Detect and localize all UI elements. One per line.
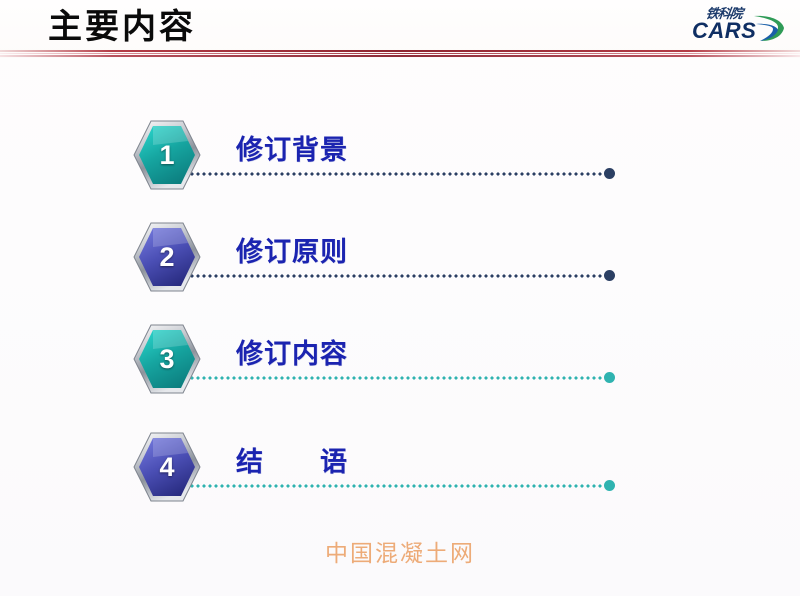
logo-swoosh-icon	[752, 10, 786, 44]
agenda-label-2: 修订原则	[236, 232, 348, 272]
agenda-item-3[interactable]: 3 修订内容	[0, 320, 800, 398]
watermark-text: 中国混凝土网	[0, 534, 800, 568]
cars-logo: 铁科院 CARS	[690, 3, 786, 47]
logo-latin-text: CARS	[692, 19, 756, 43]
agenda-item-4[interactable]: 4 结 语	[0, 428, 800, 506]
agenda-badge-2[interactable]: 2	[130, 220, 204, 294]
connector-end-dot	[604, 372, 615, 383]
hexagon-icon	[130, 322, 204, 396]
hexagon-icon	[130, 220, 204, 294]
slide-canvas: 主要内容 铁科院 CARS	[0, 0, 800, 596]
connector-end-dot	[604, 480, 615, 491]
agenda-item-2[interactable]: 2 修订原则	[0, 218, 800, 296]
agenda-label-3: 修订内容	[236, 334, 348, 374]
agenda-badge-1[interactable]: 1	[130, 118, 204, 192]
connector-end-dot	[604, 270, 615, 281]
divider-line-middle	[0, 53, 800, 54]
connector-end-dot	[604, 168, 615, 179]
hexagon-icon	[130, 118, 204, 192]
connector-dotted-line	[183, 274, 610, 278]
agenda-item-1[interactable]: 1 修订背景	[0, 116, 800, 194]
agenda-label-4: 结 语	[236, 442, 348, 482]
agenda-label-1: 修订背景	[236, 130, 348, 170]
connector-dotted-line	[183, 172, 610, 176]
connector-dotted-line	[183, 376, 610, 380]
connector-dotted-line	[183, 484, 610, 488]
agenda-badge-3[interactable]: 3	[130, 322, 204, 396]
agenda-badge-4[interactable]: 4	[130, 430, 204, 504]
page-title: 主要内容	[48, 5, 196, 49]
divider-line-top	[0, 50, 800, 52]
divider-line-bottom	[0, 55, 800, 57]
slide-header: 主要内容 铁科院 CARS	[0, 0, 800, 58]
hexagon-icon	[130, 430, 204, 504]
header-divider	[0, 50, 800, 60]
